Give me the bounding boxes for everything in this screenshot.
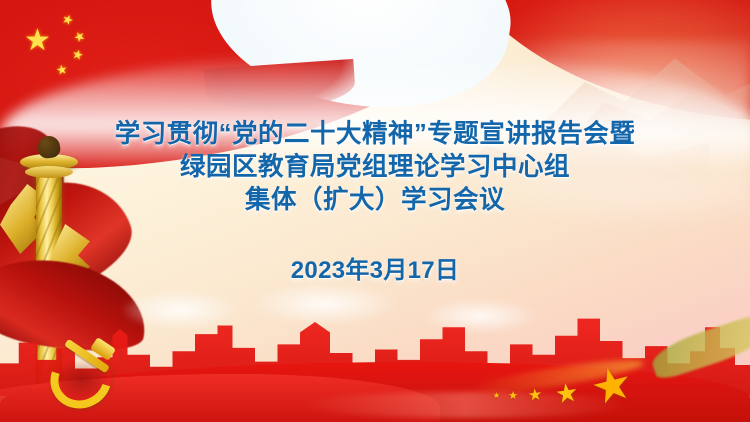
cloud-puff	[120, 290, 240, 330]
poster-title-line-2: 绿园区教育局党组理论学习中心组	[0, 151, 750, 184]
flag-star-icon: ★	[60, 11, 76, 27]
poster-title-line-1: 学习贯彻“党的二十大精神”专题宣讲报告会暨	[0, 118, 750, 151]
flag-star-icon: ★	[24, 26, 51, 56]
conference-poster: ★ ★ ★ ★ ★ ★ ★ ★ ★ ★ 学习贯彻“党的二十大精神”专题宣讲报告会…	[0, 0, 750, 422]
poster-date: 2023年3月17日	[0, 250, 750, 285]
gold-star-icon: ★	[493, 392, 500, 400]
poster-title-line-3: 集体（扩大）学习会议	[0, 184, 750, 217]
poster-text-block: 学习贯彻“党的二十大精神”专题宣讲报告会暨 绿园区教育局党组理论学习中心组 集体…	[0, 118, 750, 285]
chinese-flag: ★ ★ ★ ★ ★	[0, 0, 210, 92]
flag-star-icon: ★	[71, 47, 86, 63]
cloud-puff	[420, 298, 540, 334]
flag-star-icon: ★	[71, 28, 88, 45]
gold-star-icon: ★	[527, 387, 543, 404]
gold-star-icon: ★	[508, 391, 518, 402]
gold-star-icon: ★	[553, 379, 580, 408]
ground-sheen	[300, 392, 630, 418]
flag-star-icon: ★	[55, 62, 69, 77]
cloud-puff	[250, 282, 400, 326]
cpc-emblem-icon	[48, 338, 120, 400]
